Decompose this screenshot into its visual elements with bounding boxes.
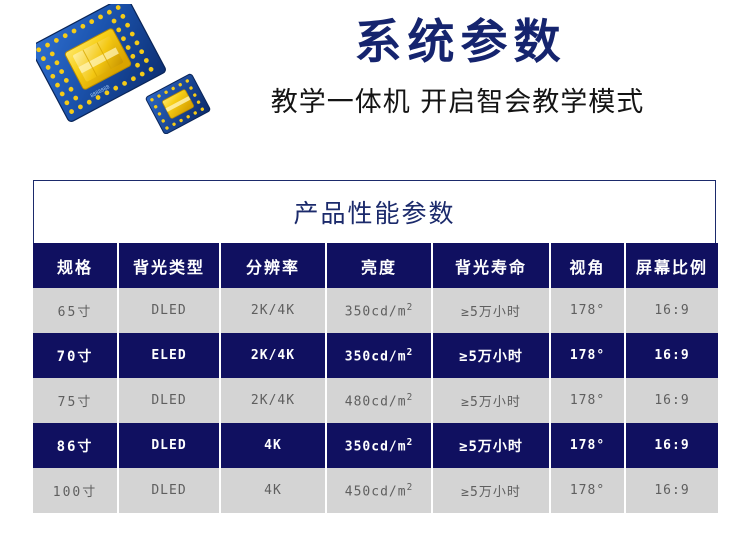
unit-superscript: 2 [407, 302, 414, 313]
table-cell: 2K/4K [220, 378, 326, 423]
table-cell: 178° [550, 378, 625, 423]
table-cell: 65寸 [33, 288, 118, 333]
table-header-cell: 亮度 [326, 243, 432, 288]
table-cell: 16:9 [625, 333, 718, 378]
table-cell: 350cd/m2 [326, 333, 432, 378]
table-caption: 产品性能参数 [33, 180, 716, 243]
table-cell: 2K/4K [220, 333, 326, 378]
table-cell: ≥5万小时 [432, 288, 550, 333]
table-row: 75寸DLED2K/4K480cd/m2≥5万小时178°16:9 [33, 378, 718, 423]
table-cell: 86寸 [33, 423, 118, 468]
table-cell: 100寸 [33, 468, 118, 513]
table-cell: 480cd/m2 [326, 378, 432, 423]
table-cell: 350cd/m2 [326, 288, 432, 333]
unit-superscript: 2 [407, 482, 414, 493]
table-cell: 350cd/m2 [326, 423, 432, 468]
table-cell: 70寸 [33, 333, 118, 378]
table-header-cell: 屏幕比例 [625, 243, 718, 288]
table-cell: DLED [118, 423, 220, 468]
table-cell: ≥5万小时 [432, 423, 550, 468]
table-header-cell: 分辨率 [220, 243, 326, 288]
page-header: 8888888 系统参数 教学一体机 开启智会教学模式 [0, 0, 750, 170]
table-cell: DLED [118, 288, 220, 333]
table-cell: 4K [220, 468, 326, 513]
unit-superscript: 2 [407, 347, 414, 358]
table-cell: 450cd/m2 [326, 468, 432, 513]
unit-superscript: 2 [407, 392, 414, 403]
title-block: 系统参数 教学一体机 开启智会教学模式 [185, 14, 730, 119]
table-cell: 4K [220, 423, 326, 468]
table-cell: ≥5万小时 [432, 333, 550, 378]
table-cell: DLED [118, 468, 220, 513]
table-cell: DLED [118, 378, 220, 423]
unit-superscript: 2 [407, 437, 414, 448]
table-row: 65寸DLED2K/4K350cd/m2≥5万小时178°16:9 [33, 288, 718, 333]
table-cell: 16:9 [625, 468, 718, 513]
table-body: 65寸DLED2K/4K350cd/m2≥5万小时178°16:970寸ELED… [33, 288, 718, 513]
table-row: 86寸DLED4K350cd/m2≥5万小时178°16:9 [33, 423, 718, 468]
table-header-cell: 规格 [33, 243, 118, 288]
table-header-cell: 视角 [550, 243, 625, 288]
spec-table-container: 产品性能参数 规格背光类型分辨率亮度背光寿命视角屏幕比例 65寸DLED2K/4… [33, 180, 718, 513]
product-spec-table: 规格背光类型分辨率亮度背光寿命视角屏幕比例 65寸DLED2K/4K350cd/… [33, 243, 718, 513]
table-cell: 178° [550, 468, 625, 513]
table-caption-text: 产品性能参数 [293, 194, 455, 230]
table-cell: 2K/4K [220, 288, 326, 333]
table-cell: 16:9 [625, 378, 718, 423]
page-subtitle: 教学一体机 开启智会教学模式 [185, 87, 730, 119]
table-cell: ≥5万小时 [432, 468, 550, 513]
table-header-cell: 背光类型 [118, 243, 220, 288]
page-title: 系统参数 [185, 14, 730, 73]
table-cell: ≥5万小时 [432, 378, 550, 423]
table-cell: 75寸 [33, 378, 118, 423]
table-cell: 178° [550, 423, 625, 468]
table-row: 100寸DLED4K450cd/m2≥5万小时178°16:9 [33, 468, 718, 513]
table-header-cell: 背光寿命 [432, 243, 550, 288]
table-cell: 178° [550, 333, 625, 378]
table-cell: 16:9 [625, 288, 718, 333]
table-header-row: 规格背光类型分辨率亮度背光寿命视角屏幕比例 [33, 243, 718, 288]
table-row: 70寸ELED2K/4K350cd/m2≥5万小时178°16:9 [33, 333, 718, 378]
table-cell: ELED [118, 333, 220, 378]
table-cell: 16:9 [625, 423, 718, 468]
table-cell: 178° [550, 288, 625, 333]
